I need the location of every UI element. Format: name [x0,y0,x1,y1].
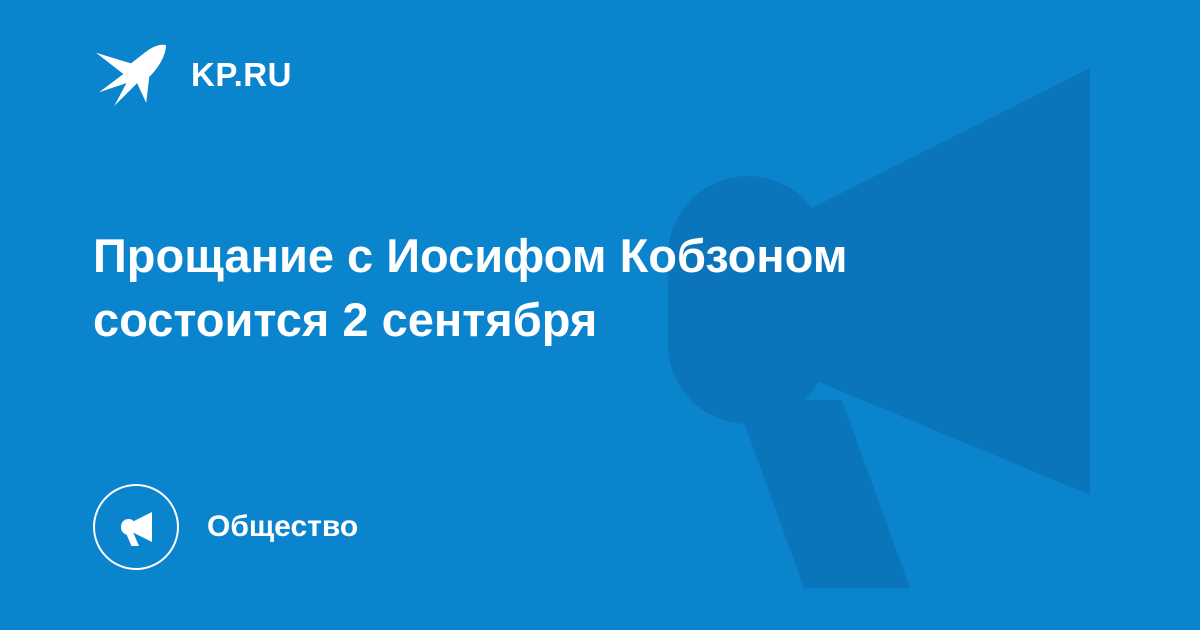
headline-line-2: состоится 2 сентября [93,288,1053,352]
swallow-bird-icon [93,34,169,114]
social-share-card: KP.RU Прощание с Иосифом Кобзоном состои… [0,0,1200,630]
headline-line-1: Прощание с Иосифом Кобзоном [93,224,1053,288]
page-title: Прощание с Иосифом Кобзоном состоится 2 … [93,224,1053,352]
brand-logo[interactable]: KP.RU [93,34,292,114]
category-label: Общество [207,512,358,542]
category-badge[interactable]: Общество [93,484,358,570]
megaphone-icon [93,484,179,570]
brand-name: KP.RU [191,58,292,91]
